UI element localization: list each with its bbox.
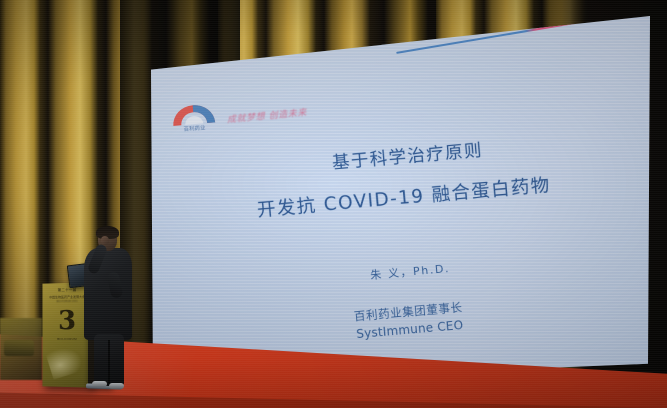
presenter-shoe-left [92,381,107,387]
foreground-furniture-seat [4,340,34,356]
presenter-leg-gap [108,340,110,384]
conference-photo-scene: 百利药业 成就梦想 创造未来 基于科学治疗原则 开发抗 COVID-19 融合蛋… [0,0,667,408]
presenter-at-podium [78,228,140,388]
projection-screen: 百利药业 成就梦想 创造未来 基于科学治疗原则 开发抗 COVID-19 融合蛋… [150,16,650,386]
slide-script-tagline: 成就梦想 创造未来 [226,105,307,125]
baili-arch-logo-icon: 百利药业 [170,101,219,139]
presenter-shoe-right [109,383,124,389]
slide-logo-group: 百利药业 成就梦想 创造未来 [170,93,309,139]
slide-title: 基于科学治疗原则 开发抗 COVID-19 融合蛋白药物 [147,129,650,224]
